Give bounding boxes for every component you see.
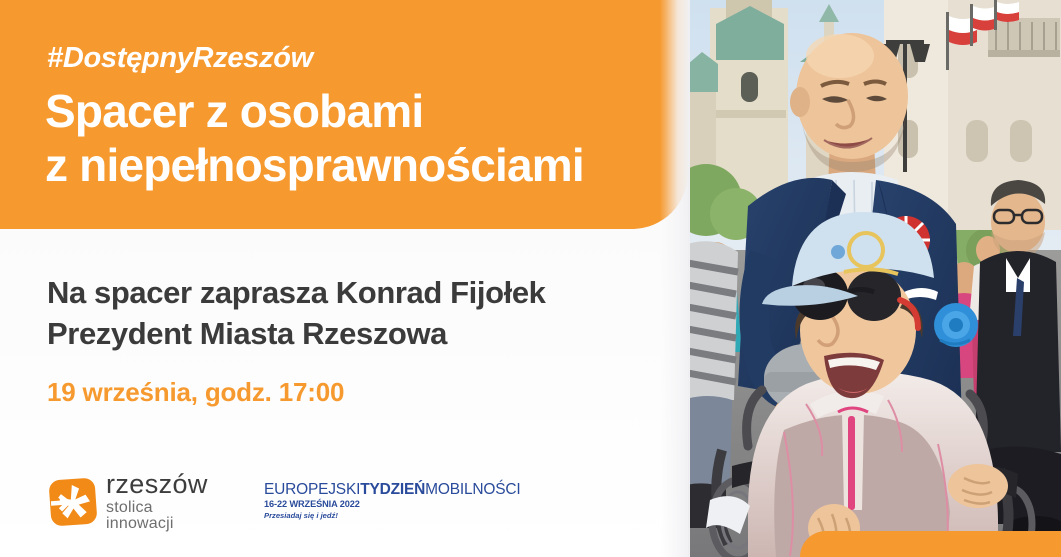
- event-datetime: 19 września, godz. 17:00: [47, 377, 344, 408]
- emw-title-part-1: EUROPEJSKI: [264, 481, 360, 498]
- rzeszow-name: rzeszów: [106, 471, 208, 498]
- orange-headline-panel: #DostępnyRzeszów Spacer z osobami z niep…: [0, 0, 688, 229]
- emw-title-part-2: TYDZIEŃ: [360, 481, 425, 498]
- headline-line-2: z niepełnosprawnościami: [45, 139, 584, 193]
- invitation-line-1: Na spacer zaprasza Konrad Fijołek: [47, 275, 546, 310]
- emw-date: 16-22 WRZEŚNIA 2022: [264, 499, 520, 509]
- promotional-banner: #DostępnyRzeszów Spacer z osobami z niep…: [0, 0, 1061, 557]
- emw-title-part-3: MOBILNOŚCI: [425, 481, 520, 498]
- content-column: #DostępnyRzeszów Spacer z osobami z niep…: [0, 0, 688, 557]
- european-mobility-week-logo: EUROPEJSKITYDZIEŃMOBILNOŚCI 16-22 WRZEŚN…: [264, 482, 520, 520]
- orange-corner-accent: [800, 531, 1061, 557]
- headline-line-1: Spacer z osobami: [45, 85, 423, 137]
- invitation-line-2: Prezydent Miasta Rzeszowa: [47, 314, 546, 355]
- rzeszow-logo: rzeszów stolica innowacji: [47, 471, 208, 532]
- photo-illustration: [688, 0, 1061, 557]
- rzeszow-tagline: stolica innowacji: [106, 500, 208, 532]
- event-photo: [688, 0, 1061, 557]
- rzeszow-wordmark: rzeszów stolica innowacji: [106, 471, 208, 532]
- page-title: Spacer z osobami z niepełnosprawnościami: [45, 85, 584, 193]
- emw-title: EUROPEJSKITYDZIEŃMOBILNOŚCI: [264, 482, 520, 498]
- emw-slogan: Przesiadaj się i jedź!: [264, 511, 520, 520]
- rzeszow-star-arrow-icon: [47, 476, 99, 528]
- campaign-hashtag: #DostępnyRzeszów: [47, 42, 313, 75]
- invitation-text: Na spacer zaprasza Konrad Fijołek Prezyd…: [47, 273, 546, 355]
